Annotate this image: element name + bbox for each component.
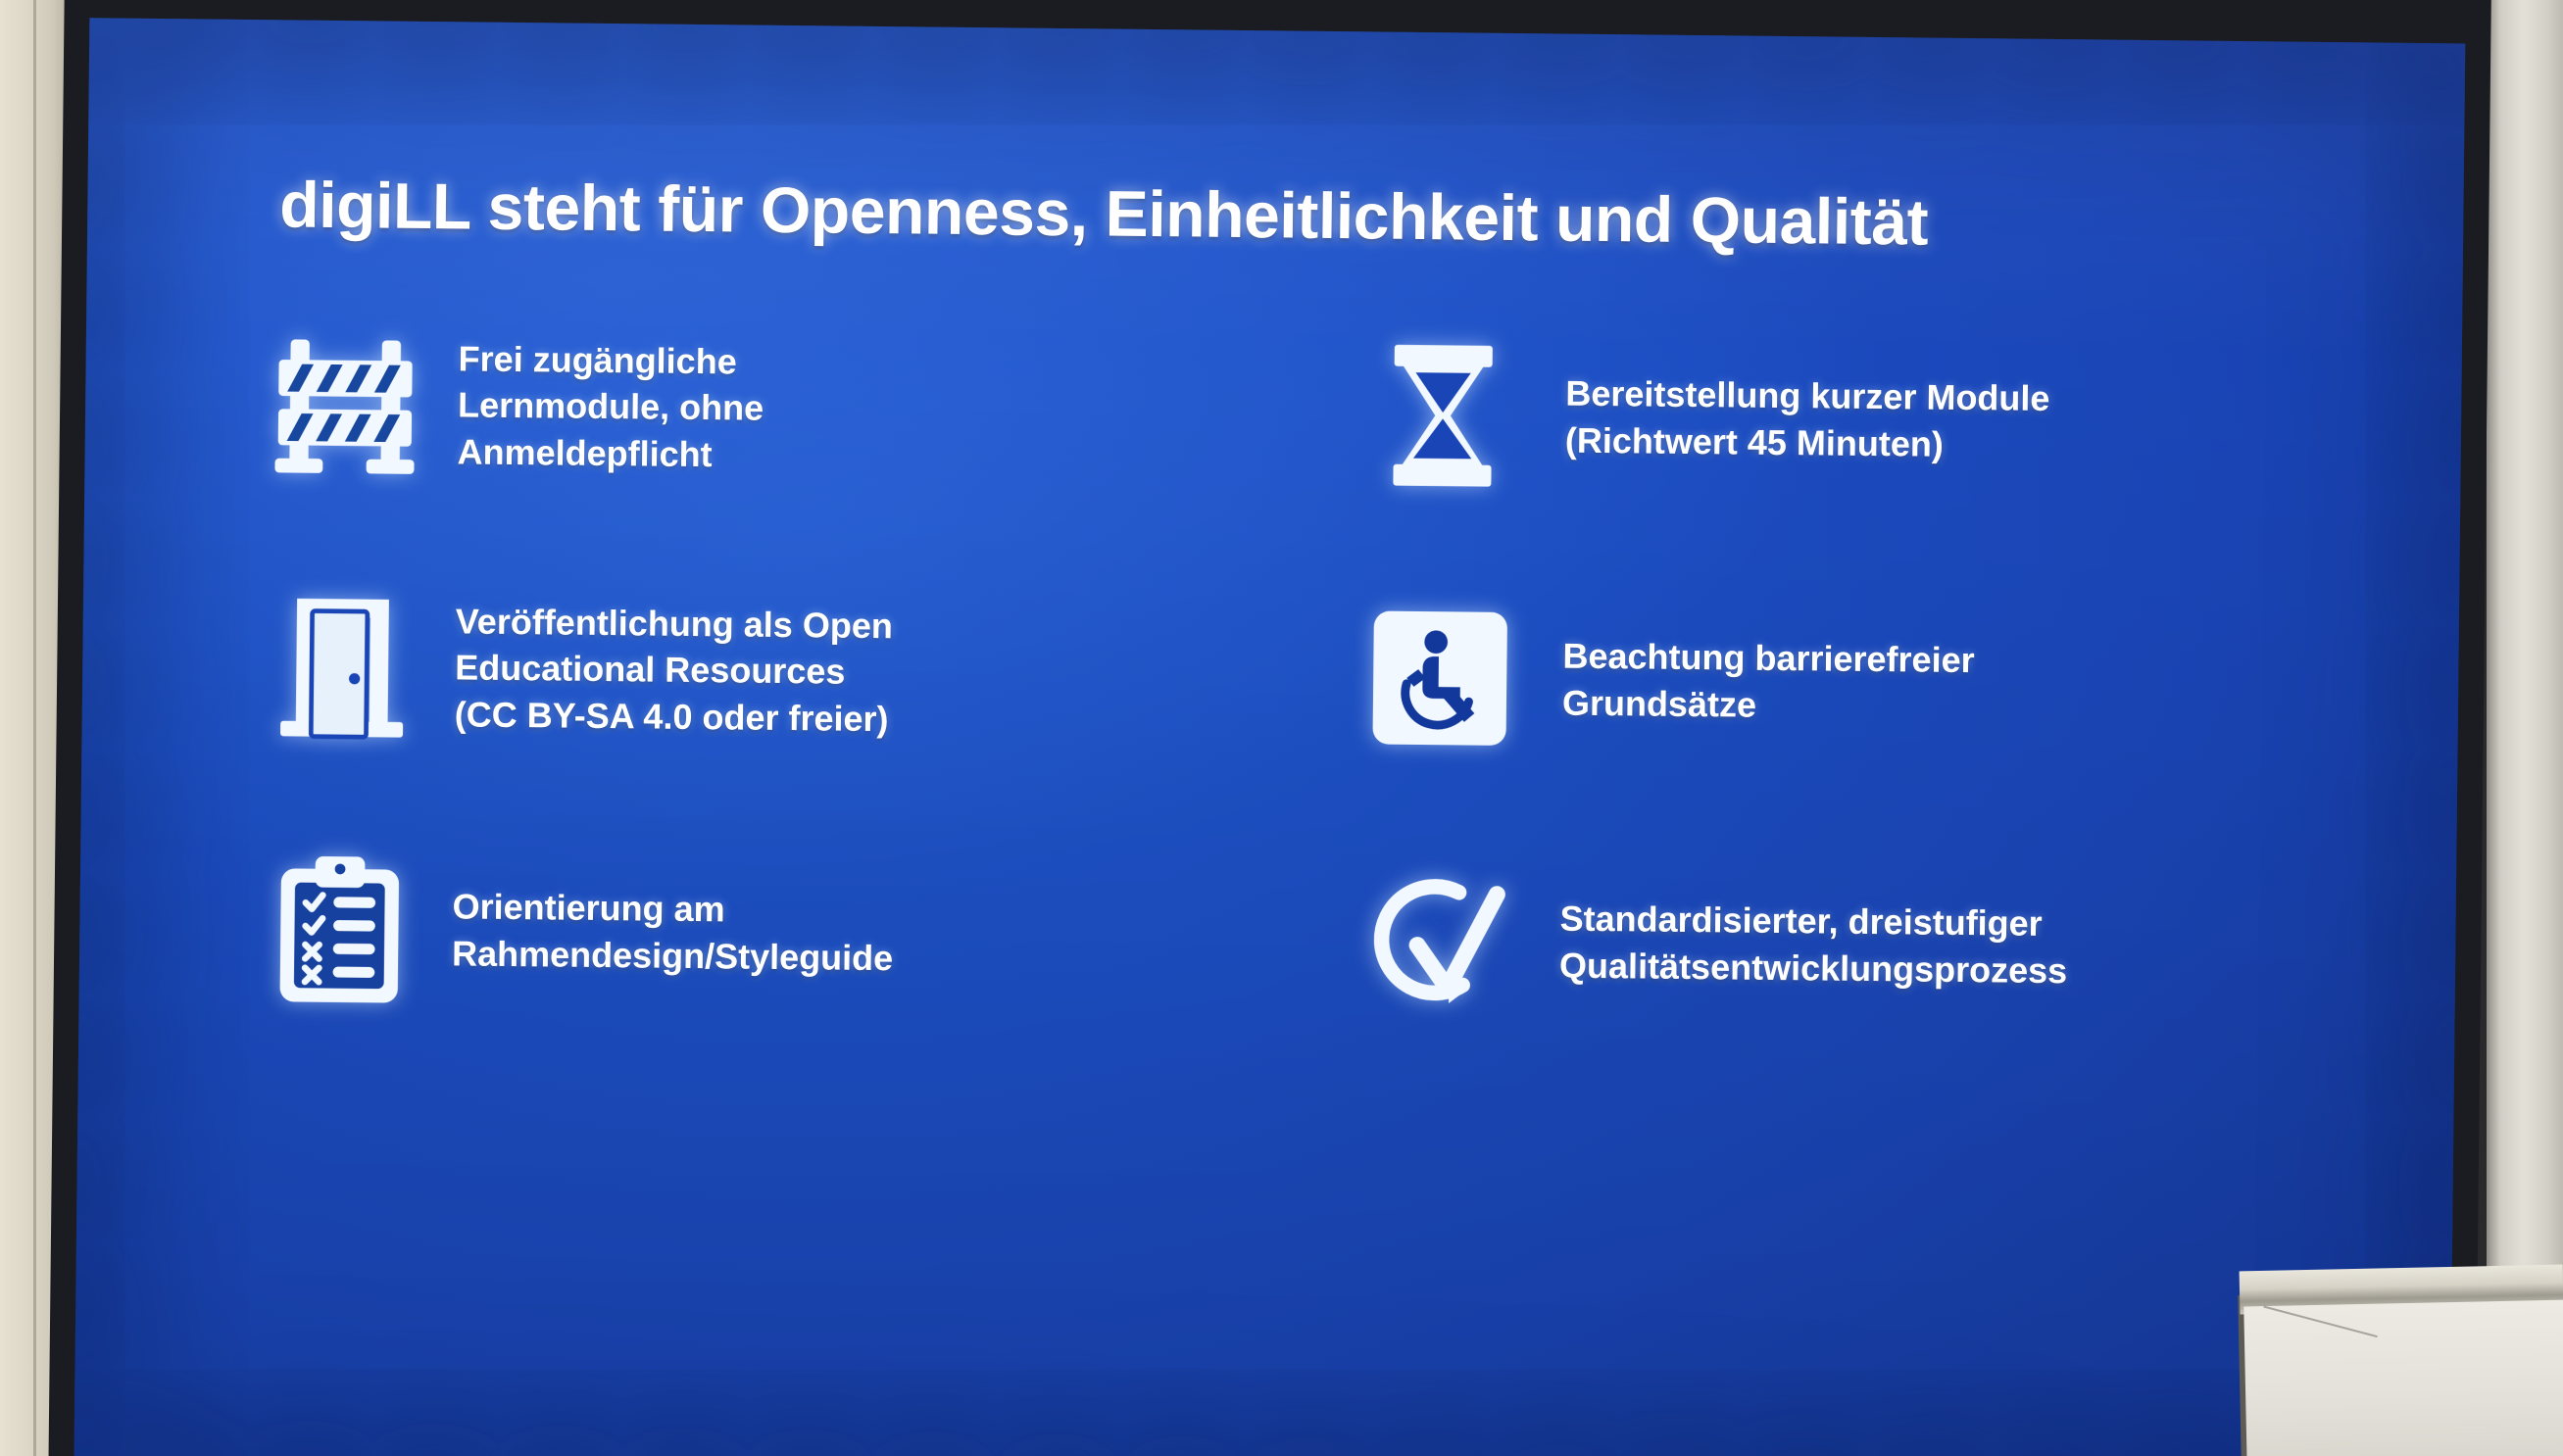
circular-arrow-checkmark-icon [1313,853,1560,1028]
slide-title: digiLL steht für Openness, Einheitlichke… [279,167,2339,264]
projection-screen-frame: digiLL steht für Openness, Einheitlichke… [48,0,2491,1456]
room-scene: digiLL steht für Openness, Einheitlichke… [0,0,2563,1456]
bullet-item-text: Frei zugängliche Lernmodule, ohne Anmeld… [457,335,764,478]
presentation-slide: digiLL steht für Openness, Einheitlichke… [74,18,2465,1456]
slide-content-grid: Frei zugängliche Lernmodule, ohne Anmeld… [225,314,2370,1041]
bullet-item-text: Veröffentlichung als Open Educational Re… [455,598,894,742]
bullet-item-text: Bereitstellung kurzer Module (Richtwert … [1565,370,2050,468]
bullet-item-text: Orientierung am Rahmendesign/Styleguide [452,884,894,982]
flipchart-paper [2243,1300,2563,1456]
open-door-icon [228,579,456,752]
road-barrier-icon [231,316,459,490]
bullet-item-text: Beachtung barrierefreier Grundsätze [1562,633,1975,731]
wall-right [2487,0,2563,1456]
bullet-item-qualitaetsentwicklungsprozess: Standardisierter, dreistufiger Qualitäts… [1313,850,2364,1041]
bullet-item-bereitstellung-kurzer-module: Bereitstellung kurzer Module (Richtwert … [1319,325,2370,515]
flipchart-foreground [2240,1260,2563,1456]
bullet-item-veroeffentlichung-oer: Veröffentlichung als Open Educational Re… [228,576,1279,766]
wheelchair-accessibility-icon [1316,591,1563,765]
clipboard-checklist-icon [225,842,453,1015]
bullet-item-rahmendesign-styleguide: Orientierung am Rahmendesign/Styleguide [225,839,1276,1029]
bullet-item-frei-zugaengliche: Frei zugängliche Lernmodule, ohne Anmeld… [231,314,1282,504]
hourglass-icon [1319,328,1566,503]
bullet-item-text: Standardisierter, dreistufiger Qualitäts… [1559,896,2068,995]
bullet-item-barrierefreiheit: Beachtung barrierefreier Grundsätze [1316,588,2367,778]
